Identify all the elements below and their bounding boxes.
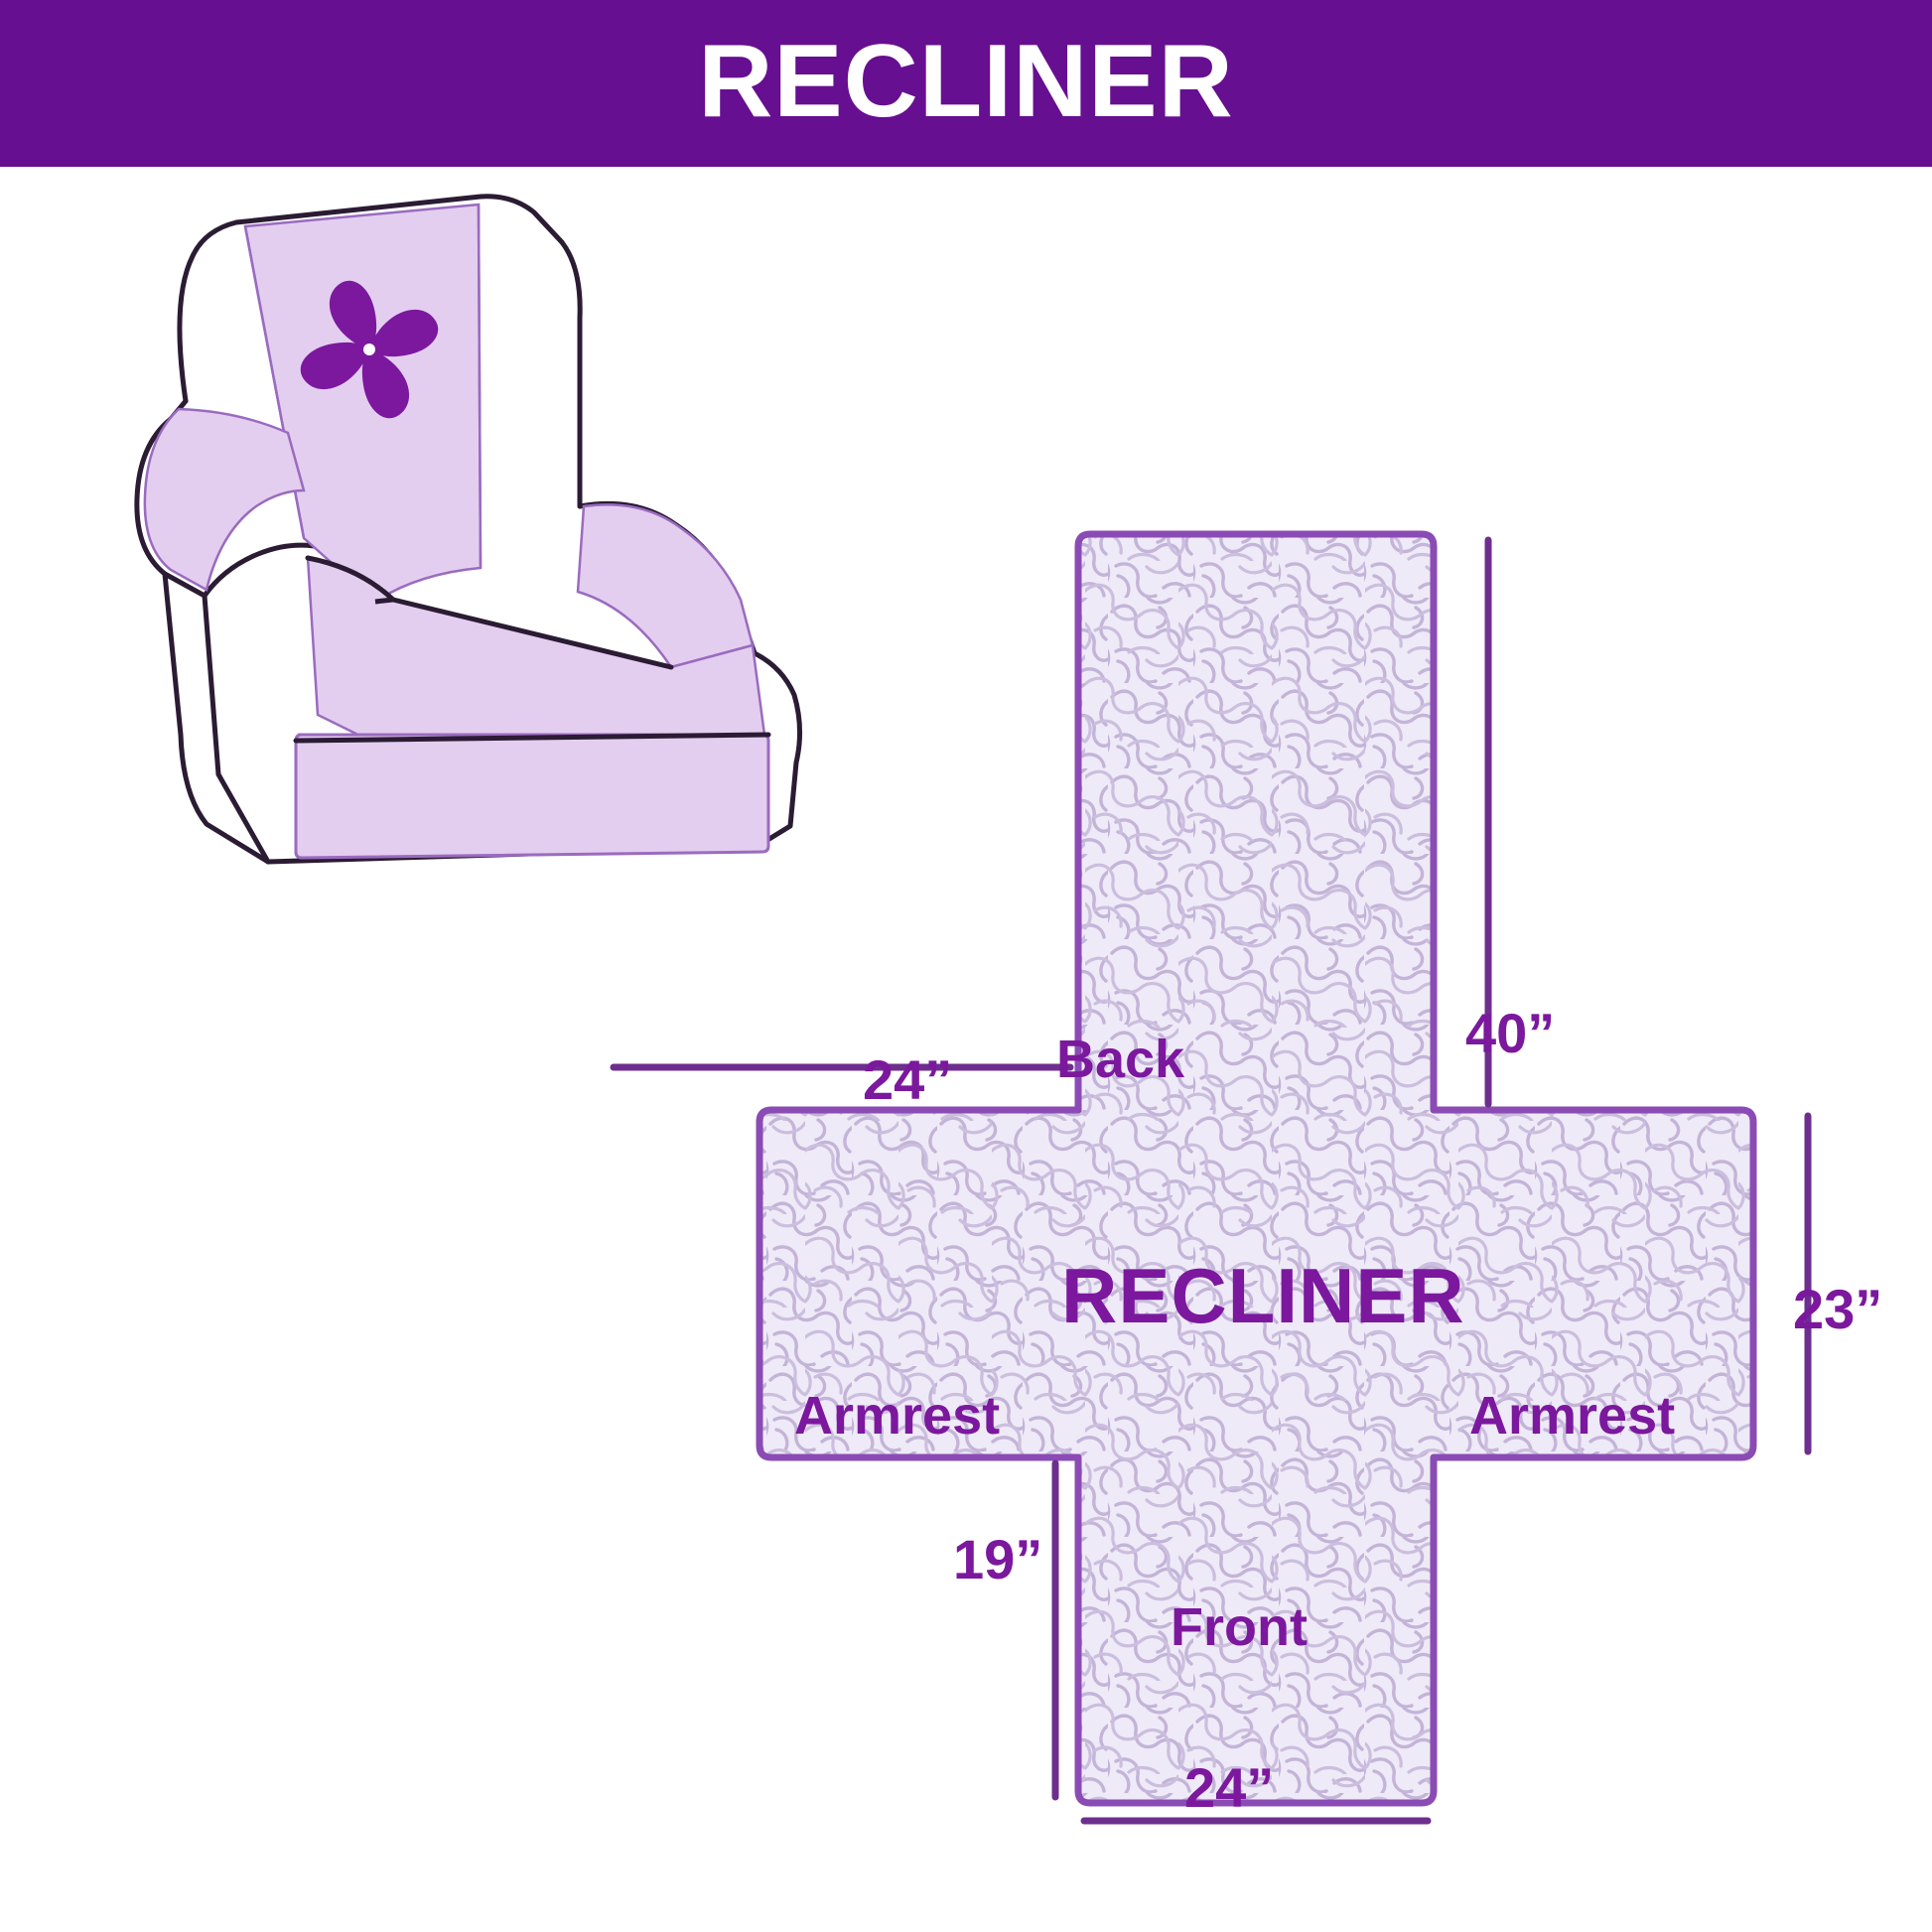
- recliner-cover-size-chart: RECLINER: [0, 0, 1932, 1932]
- panel-label-back: Back: [1056, 1033, 1184, 1086]
- panel-label-armrest-left: Armrest: [794, 1389, 1000, 1443]
- dimension-label-back-height: 40”: [1465, 1006, 1555, 1061]
- dimension-label-front-height: 19”: [953, 1532, 1042, 1587]
- panel-label-armrest-right: Armrest: [1469, 1389, 1675, 1443]
- panel-label-front: Front: [1171, 1600, 1308, 1654]
- dimension-label-back-width: 24”: [863, 1052, 952, 1108]
- page-title: RECLINER: [698, 30, 1234, 133]
- header-banner: RECLINER: [0, 0, 1932, 167]
- dimension-label-front-width: 24”: [1184, 1760, 1274, 1816]
- panel-label-recliner: RECLINER: [1061, 1257, 1465, 1334]
- dimension-label-seat-depth: 23”: [1793, 1282, 1882, 1337]
